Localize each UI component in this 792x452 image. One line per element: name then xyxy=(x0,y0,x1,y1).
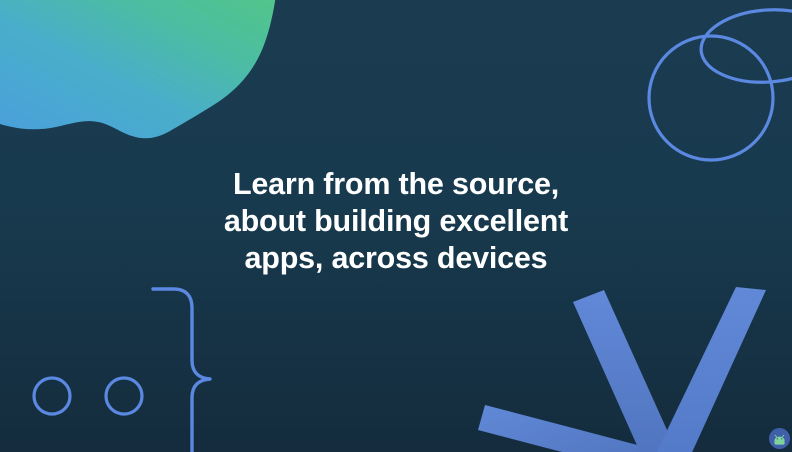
android-eye-right-icon xyxy=(781,438,782,439)
circle-outline-small-left xyxy=(34,378,70,414)
android-eye-left-icon xyxy=(777,438,778,439)
android-body-icon xyxy=(774,441,784,445)
angled-bar-center xyxy=(573,290,685,452)
android-logo-badge xyxy=(769,428,790,449)
circle-outline-small-right xyxy=(106,378,142,414)
slide-background-graphics xyxy=(0,0,792,452)
circle-outline-large xyxy=(649,36,773,160)
curly-brace-outline xyxy=(153,289,210,452)
presentation-slide: Learn from the source, about building ex… xyxy=(0,0,792,452)
gradient-blob-shape xyxy=(0,0,276,138)
